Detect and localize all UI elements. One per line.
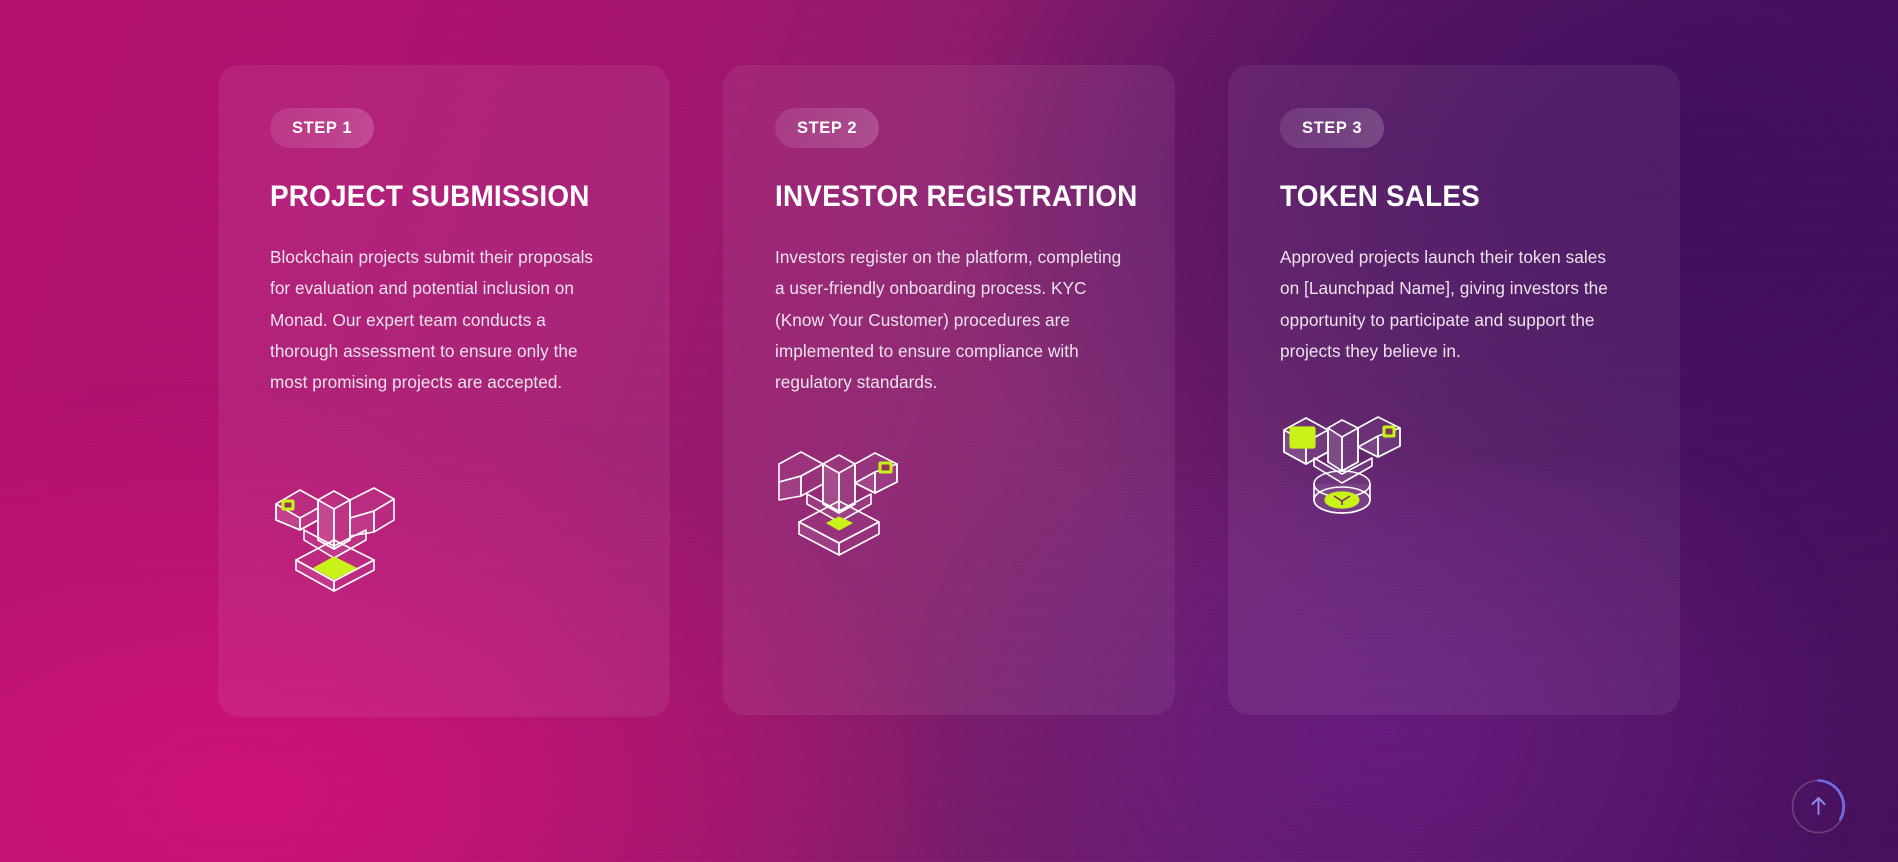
step-title-2: INVESTOR REGISTRATION xyxy=(775,180,1099,213)
isometric-registration-icon xyxy=(775,438,903,569)
step-title-3: TOKEN SALES xyxy=(1280,180,1604,213)
steps-card-row: STEP 1 PROJECT SUBMISSION Blockchain pro… xyxy=(218,65,1680,717)
scroll-progress-arc xyxy=(1819,781,1844,820)
arrow-up-icon xyxy=(1813,798,1825,814)
step-card-1[interactable]: STEP 1 PROJECT SUBMISSION Blockchain pro… xyxy=(218,65,670,717)
page-root: STEP 1 PROJECT SUBMISSION Blockchain pro… xyxy=(0,0,1898,862)
step-badge-1: STEP 1 xyxy=(270,108,374,148)
step-card-3[interactable]: STEP 3 TOKEN SALES Approved projects lau… xyxy=(1228,65,1680,715)
scroll-to-top-button[interactable] xyxy=(1790,778,1847,835)
step-body-3: Approved projects launch their token sal… xyxy=(1280,242,1628,367)
step-badge-2: STEP 2 xyxy=(775,108,879,148)
isometric-submission-icon xyxy=(270,474,400,605)
isometric-token-sales-icon xyxy=(1280,404,1405,531)
step-badge-3: STEP 3 xyxy=(1280,108,1384,148)
step-body-2: Investors register on the platform, comp… xyxy=(775,242,1123,398)
step-title-1: PROJECT SUBMISSION xyxy=(270,180,594,213)
step-body-1: Blockchain projects submit their proposa… xyxy=(270,242,618,398)
step-card-2[interactable]: STEP 2 INVESTOR REGISTRATION Investors r… xyxy=(723,65,1175,715)
